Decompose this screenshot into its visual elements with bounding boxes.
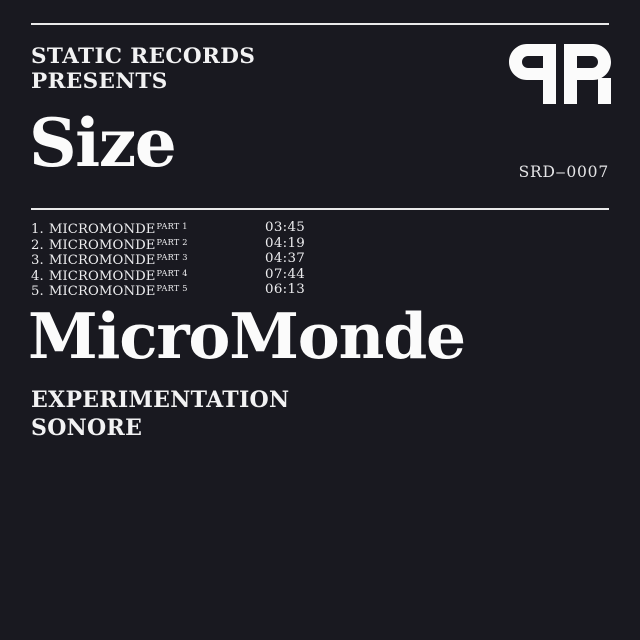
track-part: PART 1 — [157, 221, 188, 231]
divider-top — [31, 23, 609, 25]
track-number: 5. — [31, 284, 44, 299]
track-part: PART 3 — [157, 252, 188, 262]
track-row: 4. MICROMONDEPART 4 07:44 — [31, 267, 361, 283]
album-title: MicroMonde — [28, 303, 465, 369]
subtitle-line-2: SONORE — [31, 414, 289, 442]
artist-name: Size — [29, 108, 175, 178]
track-title: MICROMONDE — [49, 284, 156, 299]
track-duration: 04:37 — [265, 251, 305, 267]
album-subtitle: EXPERIMENTATION SONORE — [31, 386, 289, 442]
track-part: PART 2 — [157, 237, 188, 247]
imprint-line-2: PRESENTS — [31, 69, 255, 94]
tracklist: 1. MICROMONDEPART 1 03:45 2. MICROMONDEP… — [31, 220, 361, 298]
album-cover: STATIC RECORDS PRESENTS Size SRD‒0007 1.… — [0, 0, 640, 640]
track-duration: 04:19 — [265, 236, 305, 252]
record-label-imprint: STATIC RECORDS PRESENTS — [31, 44, 255, 94]
imprint-line-1: STATIC RECORDS — [31, 44, 255, 69]
track-duration: 06:13 — [265, 282, 305, 298]
catalog-number: SRD‒0007 — [519, 163, 609, 181]
divider-middle — [31, 208, 609, 210]
track-row: 5. MICROMONDEPART 5 06:13 — [31, 282, 361, 298]
track-part: PART 4 — [157, 268, 188, 278]
track-duration: 07:44 — [265, 267, 305, 283]
track-duration: 03:45 — [265, 220, 305, 236]
track-row: 2. MICROMONDEPART 2 04:19 — [31, 236, 361, 252]
track-row: 3. MICROMONDEPART 3 04:37 — [31, 251, 361, 267]
subtitle-line-1: EXPERIMENTATION — [31, 386, 289, 414]
track-row: 1. MICROMONDEPART 1 03:45 — [31, 220, 361, 236]
track-part: PART 5 — [157, 283, 188, 293]
static-records-logo — [509, 44, 611, 104]
